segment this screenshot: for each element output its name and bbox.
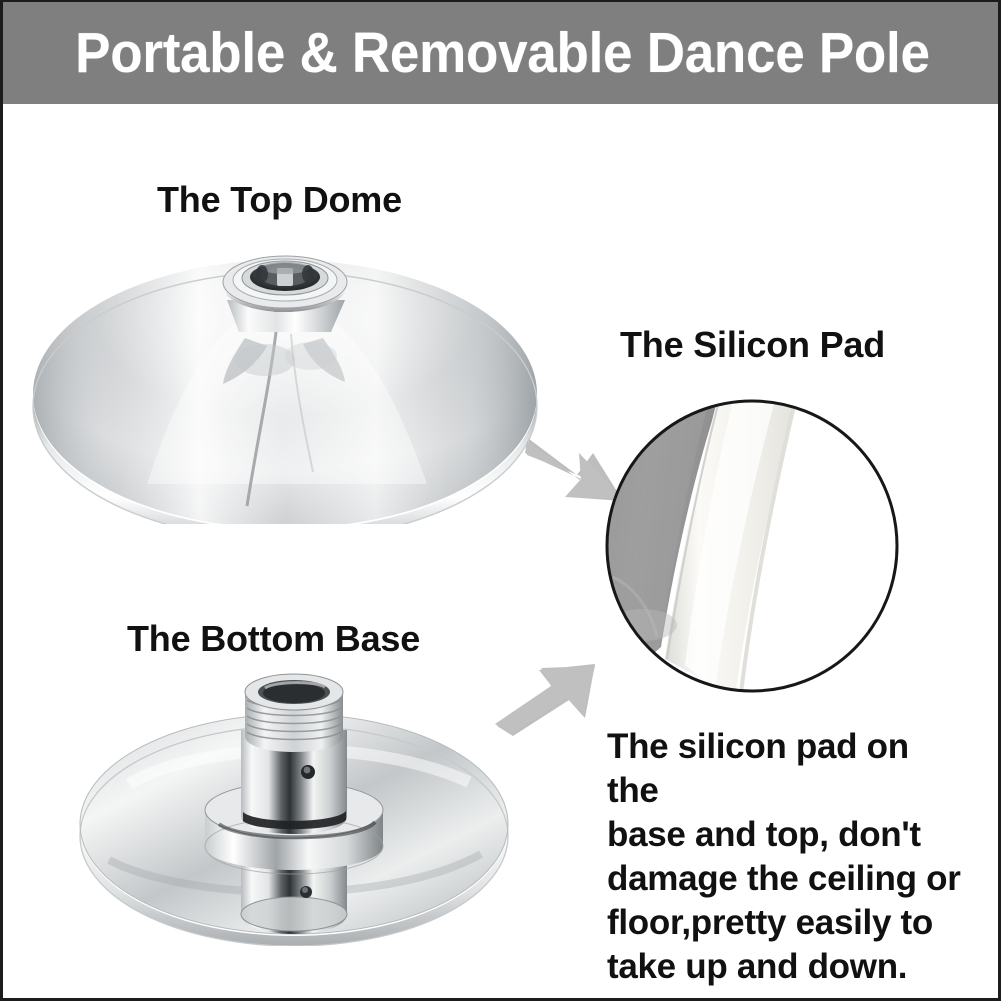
label-silicon-pad: The Silicon Pad — [620, 327, 885, 363]
header-banner: Portable & Removable Dance Pole — [3, 2, 1001, 104]
bottom-base-illustration — [69, 664, 519, 946]
page-title: Portable & Removable Dance Pole — [75, 25, 930, 82]
top-dome-photo — [27, 234, 547, 524]
bottom-base-photo — [69, 664, 519, 946]
description-text: The silicon pad on the base and top, don… — [607, 725, 963, 989]
description-line: damage the ceiling or — [607, 857, 963, 901]
description-line: The silicon pad on the — [607, 725, 963, 813]
label-bottom-base: The Bottom Base — [127, 621, 420, 657]
label-top-dome: The Top Dome — [157, 182, 402, 218]
silicon-pad-photo — [603, 397, 901, 695]
description-line: floor,pretty easily to — [607, 901, 963, 945]
top-dome-illustration — [27, 234, 547, 524]
infographic-canvas: Portable & Removable Dance Pole — [0, 0, 1001, 1001]
silicon-pad-illustration — [603, 397, 901, 695]
description-line: take up and down. — [607, 945, 963, 989]
description-line: base and top, don't — [607, 813, 963, 857]
arrow-to-base-detail-icon — [495, 654, 599, 738]
